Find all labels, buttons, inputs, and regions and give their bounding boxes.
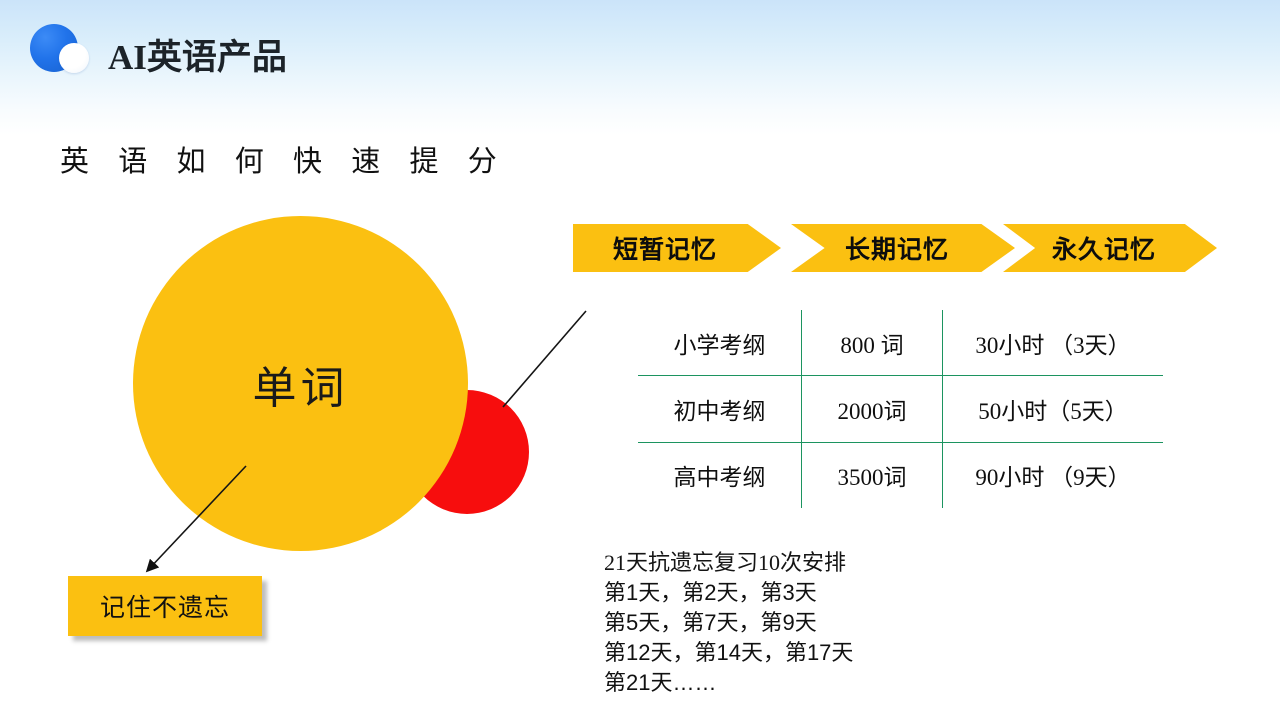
memory-stage-flow: 短暂记忆 长期记忆 永久记忆 <box>570 224 1220 272</box>
table-row: 初中考纲 2000词 50小时（5天） <box>638 376 1163 443</box>
memory-stage-1[interactable]: 短暂记忆 <box>573 224 781 272</box>
logo-secondary-circle <box>59 43 89 73</box>
table-cell-time: 30小时 （3天） <box>943 310 1164 376</box>
table-cell-words: 800 词 <box>802 310 943 376</box>
review-schedule-line-1: 第1天，第2天，第3天 <box>604 578 1024 608</box>
review-schedule: 21天抗遗忘复习10次安排 第1天，第2天，第3天 第5天，第7天，第9天 第1… <box>604 548 1024 698</box>
memory-stage-2-label: 长期记忆 <box>845 230 949 266</box>
table-cell-time: 50小时（5天） <box>943 376 1164 443</box>
table-cell-level: 初中考纲 <box>638 376 802 443</box>
table-row: 小学考纲 800 词 30小时 （3天） <box>638 310 1163 376</box>
callout-label: 记住不遗忘 <box>100 588 230 624</box>
table-cell-level: 小学考纲 <box>638 310 802 376</box>
review-schedule-title: 21天抗遗忘复习10次安排 <box>604 548 1024 578</box>
review-schedule-line-2: 第5天，第7天，第9天 <box>604 608 1024 638</box>
memory-stage-3-label: 永久记忆 <box>1052 230 1156 266</box>
brand-dots-icon <box>26 22 98 74</box>
memory-stage-3[interactable]: 永久记忆 <box>1003 224 1217 272</box>
main-bubble: 单词 <box>133 216 468 551</box>
page-title: AI英语产品 <box>108 29 287 80</box>
main-bubble-label: 单词 <box>133 216 468 551</box>
memory-stage-1-label: 短暂记忆 <box>613 230 717 266</box>
slide-canvas: AI英语产品 英 语 如 何 快 速 提 分 单词 记住不遗忘 短暂记忆 长期记… <box>0 0 1280 720</box>
slide-subtitle: 英 语 如 何 快 速 提 分 <box>60 138 508 180</box>
review-schedule-line-4: 第21天…… <box>604 668 1024 698</box>
callout-box[interactable]: 记住不遗忘 <box>68 576 262 636</box>
table-cell-words: 3500词 <box>802 442 943 508</box>
syllabus-table: 小学考纲 800 词 30小时 （3天） 初中考纲 2000词 50小时（5天）… <box>638 310 1161 508</box>
memory-stage-2[interactable]: 长期记忆 <box>791 224 1015 272</box>
connector-line-table <box>503 311 586 407</box>
table-cell-words: 2000词 <box>802 376 943 443</box>
table-row: 高中考纲 3500词 90小时 （9天） <box>638 442 1163 508</box>
table-cell-time: 90小时 （9天） <box>943 442 1164 508</box>
review-schedule-line-3: 第12天，第14天，第17天 <box>604 638 1024 668</box>
syllabus-table-grid: 小学考纲 800 词 30小时 （3天） 初中考纲 2000词 50小时（5天）… <box>638 310 1163 508</box>
table-cell-level: 高中考纲 <box>638 442 802 508</box>
